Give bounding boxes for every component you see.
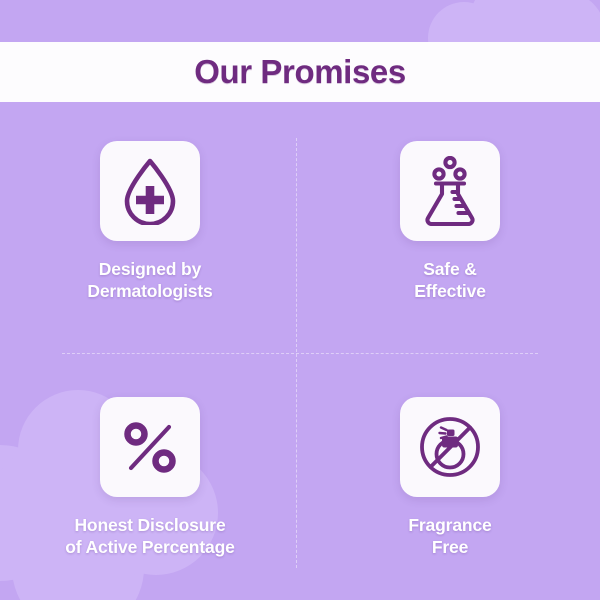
promise-icon-card bbox=[100, 397, 200, 497]
promise-item-designed-by-dermatologists: Designed by Dermatologists bbox=[0, 102, 300, 351]
promise-icon-card bbox=[400, 141, 500, 241]
promise-icon-card bbox=[100, 141, 200, 241]
promise-label: Honest Disclosure of Active Percentage bbox=[65, 514, 234, 558]
promise-label: Fragrance Free bbox=[408, 514, 491, 558]
page-title: Our Promises bbox=[194, 53, 406, 91]
header-band: Our Promises bbox=[0, 42, 600, 102]
promise-label: Designed by Dermatologists bbox=[87, 258, 212, 302]
promise-item-honest-disclosure: Honest Disclosure of Active Percentage bbox=[0, 351, 300, 600]
promises-grid: Designed by Dermatologists Safe & Effect… bbox=[0, 102, 600, 600]
flask-bubbles-icon bbox=[419, 156, 481, 226]
droplet-plus-icon bbox=[119, 157, 181, 225]
promise-icon-card bbox=[400, 397, 500, 497]
promises-poster: Our Promises Designed by Dermatologists bbox=[0, 0, 600, 600]
promise-item-safe-effective: Safe & Effective bbox=[300, 102, 600, 351]
promise-item-fragrance-free: Fragrance Free bbox=[300, 351, 600, 600]
promise-label: Safe & Effective bbox=[414, 258, 486, 302]
no-fragrance-bottle-icon bbox=[417, 414, 483, 480]
percent-icon bbox=[120, 417, 180, 477]
